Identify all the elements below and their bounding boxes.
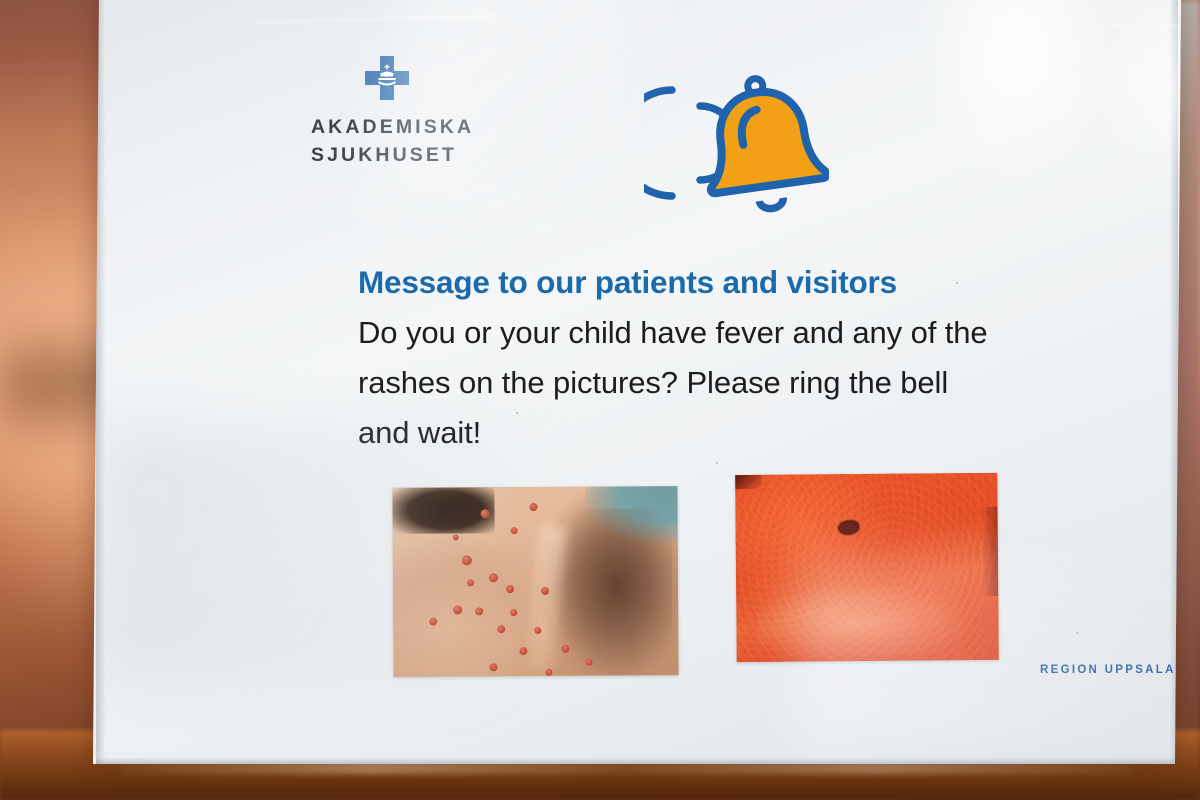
laminate-glare — [916, 0, 1116, 192]
laminate-glare — [96, 422, 516, 682]
laminate-bottom-edge — [96, 757, 1178, 764]
photo-scene: AKADEMISKA SJUKHUSET — [0, 0, 1200, 800]
laminate-glare — [796, 552, 1181, 752]
page-title: Message to our patients and visitors — [358, 264, 897, 301]
ringing-bell-icon — [644, 70, 829, 220]
laminate-glare — [367, 0, 654, 253]
body-line-2: rashes on the pictures? Please ring the … — [358, 358, 1181, 408]
laminated-notice-sign: AKADEMISKA SJUKHUSET — [93, 0, 1181, 764]
body-line-1: Do you or your child have fever and any … — [358, 308, 1181, 358]
